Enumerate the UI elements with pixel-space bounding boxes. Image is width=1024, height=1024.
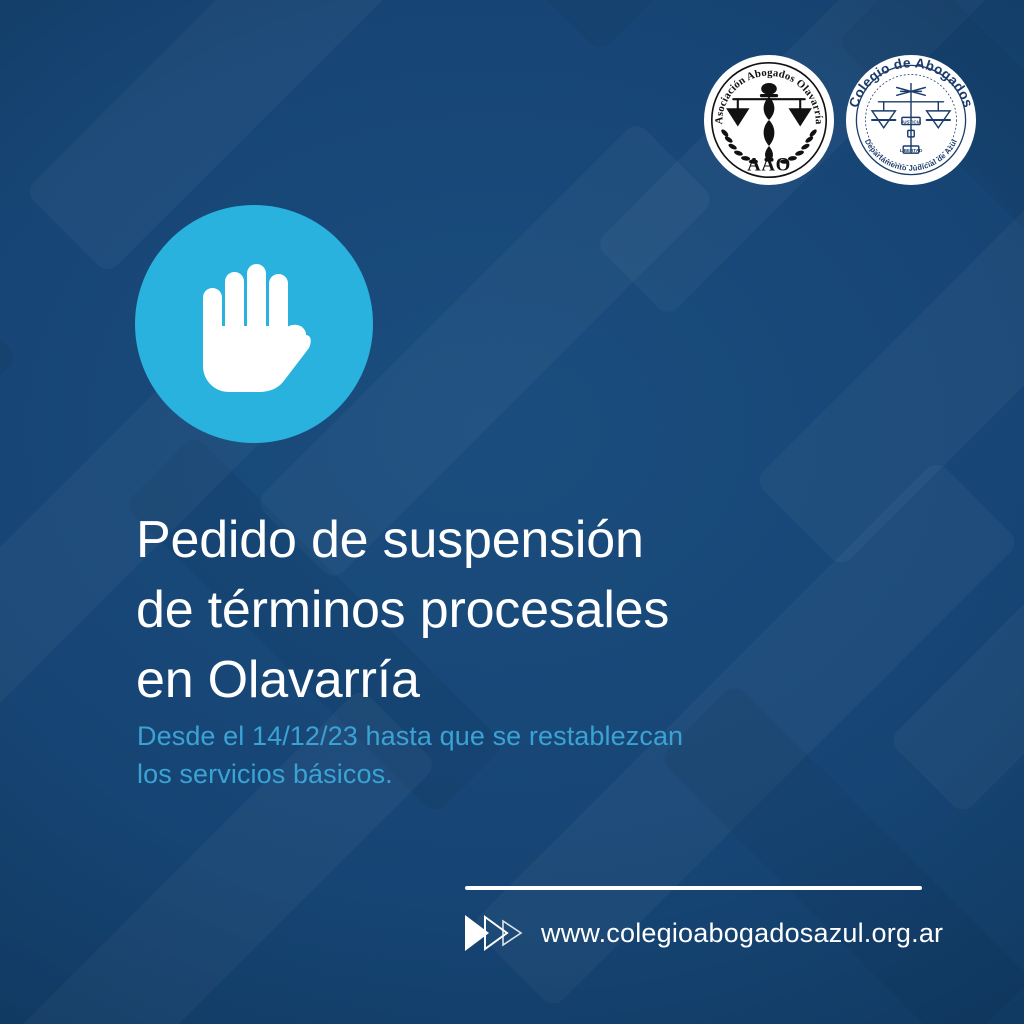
headline-line-3: en Olavarría xyxy=(136,645,669,715)
subtitle-line-2: los servicios básicos. xyxy=(137,755,683,793)
footer-divider xyxy=(465,886,922,890)
poster-canvas: Asociación Abogados Olavarría xyxy=(0,0,1024,1024)
headline-line-2: de términos procesales xyxy=(136,575,669,645)
subtitle: Desde el 14/12/23 hasta que se restablez… xyxy=(137,717,683,793)
raised-hand-stop-icon xyxy=(193,256,315,392)
colegio-abogados-azul-logo: Colegio de Abogados Departamento Judicia… xyxy=(846,55,976,185)
aao-logo: Asociación Abogados Olavarría xyxy=(704,55,834,185)
headline-line-1: Pedido de suspensión xyxy=(136,505,669,575)
svg-text:AAO: AAO xyxy=(747,155,791,176)
website-url[interactable]: www.colegioabogadosazul.org.ar xyxy=(541,920,943,947)
triple-chevron-right-icon xyxy=(463,912,525,954)
footer-website-row: www.colegioabogadosazul.org.ar xyxy=(463,912,943,954)
headline: Pedido de suspensión de términos procesa… xyxy=(136,505,669,715)
logo-group: Asociación Abogados Olavarría xyxy=(704,55,976,185)
stop-hand-badge xyxy=(135,205,373,443)
svg-text:JUSTICIA: JUSTICIA xyxy=(901,119,922,124)
svg-text:LIBERTAD: LIBERTAD xyxy=(900,148,923,153)
subtitle-line-1: Desde el 14/12/23 hasta que se restablez… xyxy=(137,717,683,755)
